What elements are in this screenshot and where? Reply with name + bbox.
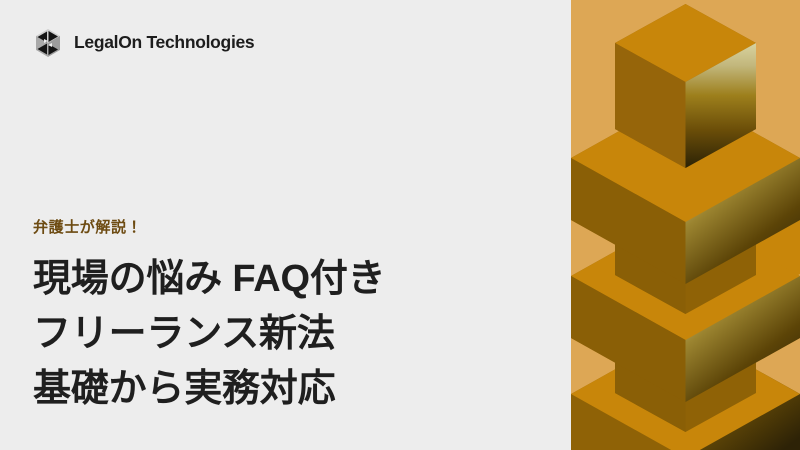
legalon-hexagon-mark-icon	[33, 28, 63, 58]
headline-block: 弁護士が解説！ 現場の悩み FAQ付き フリーランス新法 基礎から実務対応	[33, 218, 533, 418]
brand-lockup[interactable]: LegalOn Technologies	[33, 28, 254, 58]
isometric-artwork-panel	[571, 0, 800, 450]
isometric-gold-block-stack-illustration	[571, 0, 800, 450]
article-cover-slide: LegalOn Technologies 弁護士が解説！ 現場の悩み FAQ付き…	[0, 0, 800, 450]
page-title: 現場の悩み FAQ付き フリーランス新法 基礎から実務対応	[33, 252, 533, 418]
eyebrow-label: 弁護士が解説！	[33, 218, 533, 238]
headline-line-3: 基礎から実務対応	[33, 362, 533, 417]
brand-wordmark: LegalOn Technologies	[74, 34, 254, 52]
headline-line-1: 現場の悩み FAQ付き	[33, 252, 533, 307]
text-panel: LegalOn Technologies 弁護士が解説！ 現場の悩み FAQ付き…	[0, 0, 571, 450]
headline-line-2: フリーランス新法	[33, 307, 533, 362]
